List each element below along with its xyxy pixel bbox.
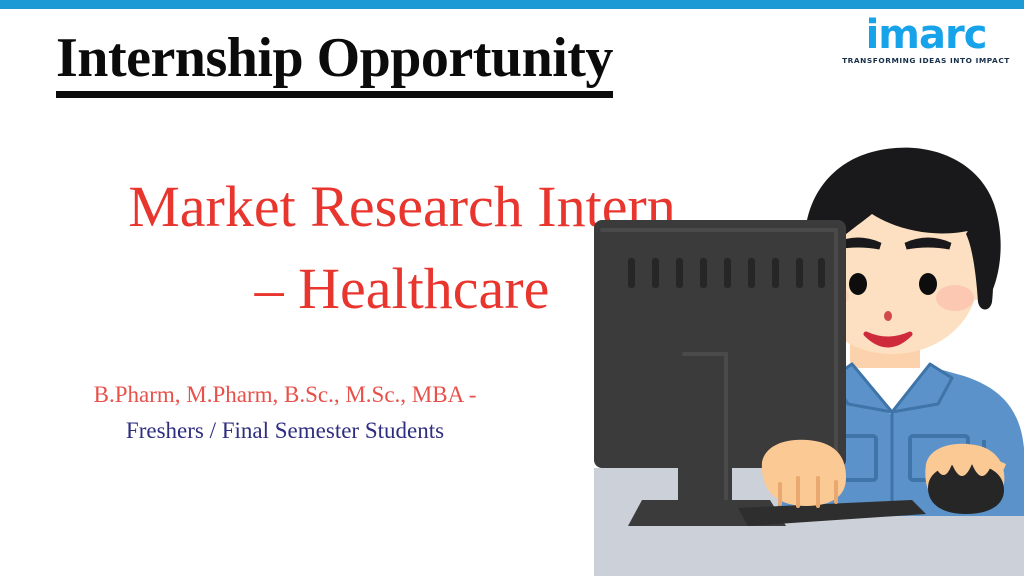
brand-tagline: TRANSFORMING IDEAS INTO IMPACT — [842, 57, 1010, 64]
poster-canvas: imarc TRANSFORMING IDEAS INTO IMPACT Int… — [0, 0, 1024, 576]
eligibility-block: B.Pharm, M.Pharm, B.Sc., M.Sc., MBA - Fr… — [30, 377, 540, 448]
monitor-stand-neck — [678, 348, 732, 508]
eligibility-degrees: B.Pharm, M.Pharm, B.Sc., M.Sc., MBA - — [30, 377, 540, 413]
imarc-logo: imarc TRANSFORMING IDEAS INTO IMPACT — [842, 16, 1010, 64]
eyebrow-right-shape — [906, 241, 950, 246]
page-title: Internship Opportunity — [56, 26, 613, 90]
eye-right-shape — [919, 273, 937, 295]
eye-left-shape — [849, 273, 867, 295]
nose-shape — [884, 311, 892, 321]
page-title-text: Internship Opportunity — [56, 27, 613, 98]
cheek-blush-shape — [936, 285, 974, 311]
brand-wordmark: imarc — [842, 16, 1010, 54]
top-accent-bar — [0, 0, 1024, 9]
man-at-computer-illustration — [580, 96, 1024, 576]
hand-left-shape — [762, 440, 846, 506]
eligibility-audience: Freshers / Final Semester Students — [30, 413, 540, 449]
